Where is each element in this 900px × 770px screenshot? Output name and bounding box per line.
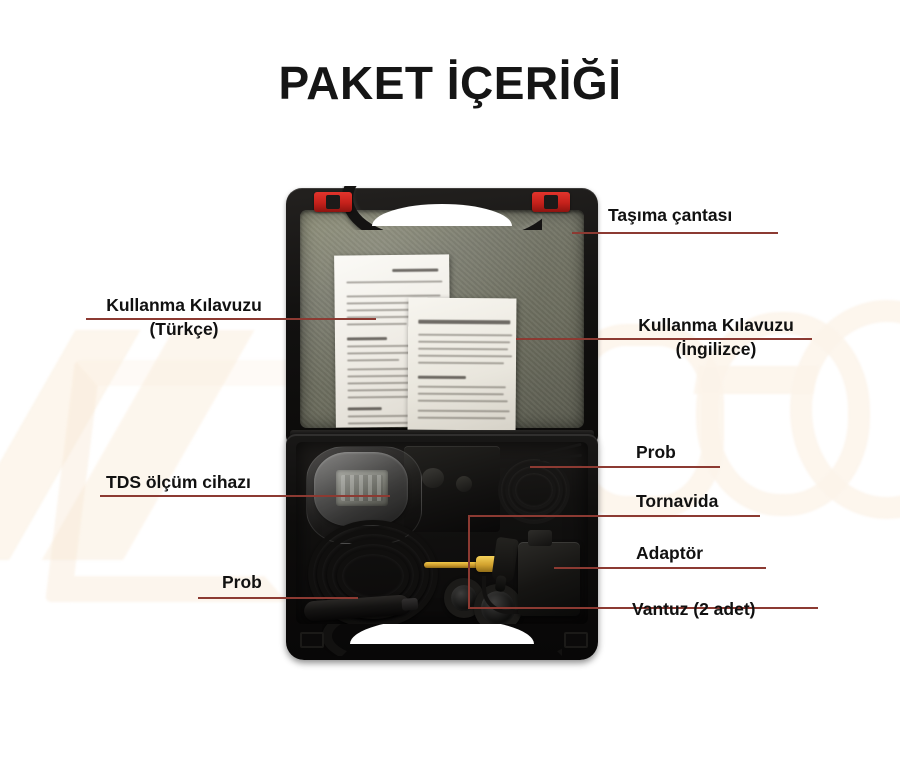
label-adapter: Adaptör xyxy=(636,541,703,565)
insert-bump-1 xyxy=(422,468,444,488)
leader-line-screwdriver xyxy=(468,515,760,517)
leader-line-tds-meter xyxy=(100,495,390,497)
page-title: PAKET İÇERİĞİ xyxy=(0,56,900,110)
label-tds-meter: TDS ölçüm cihazı xyxy=(106,470,251,494)
watermark-left xyxy=(0,330,302,560)
case-base-handle-cutout xyxy=(322,624,562,656)
leader-line-screwdriver-vert xyxy=(468,515,470,607)
product-case-photo xyxy=(286,172,598,660)
leader-line-carry-case xyxy=(572,232,778,234)
label-probe-right: Prob xyxy=(636,440,676,464)
watermark-bar xyxy=(694,366,819,394)
leader-line-probe-right xyxy=(530,466,720,468)
label-manual-turkish-line1: Kullanma Kılavuzu xyxy=(106,295,262,315)
screwdriver-shaft xyxy=(424,562,482,568)
label-manual-turkish-line2: (Türkçe) xyxy=(149,319,218,339)
case-handle xyxy=(342,186,542,230)
poster-canvas: PAKET İÇERİĞİ xyxy=(0,0,900,770)
label-carry-case: Taşıma çantası xyxy=(608,203,732,227)
case-latch-left xyxy=(314,192,352,212)
label-manual-english: Kullanma Kılavuzu (İngilizce) xyxy=(618,313,814,361)
power-adapter xyxy=(518,542,580,616)
label-suction-cups: Vantuz (2 adet) xyxy=(632,597,756,621)
case-latch-right xyxy=(532,192,570,212)
leader-line-adapter xyxy=(554,567,766,569)
case-clip-left xyxy=(300,632,324,648)
label-probe-left: Prob xyxy=(222,570,262,594)
label-manual-english-line1: Kullanma Kılavuzu xyxy=(638,315,794,335)
probe-cable-coil-top xyxy=(492,446,580,530)
manual-english-document xyxy=(408,298,517,431)
case-base-handle-hole xyxy=(350,624,534,644)
leader-line-probe-left xyxy=(198,597,358,599)
label-manual-english-line2: (İngilizce) xyxy=(676,339,757,359)
case-clip-right xyxy=(564,632,588,648)
insert-bump-2 xyxy=(456,476,472,492)
label-manual-turkish: Kullanma Kılavuzu (Türkçe) xyxy=(86,293,282,341)
label-screwdriver: Tornavida xyxy=(636,489,718,513)
case-lid xyxy=(286,188,598,446)
